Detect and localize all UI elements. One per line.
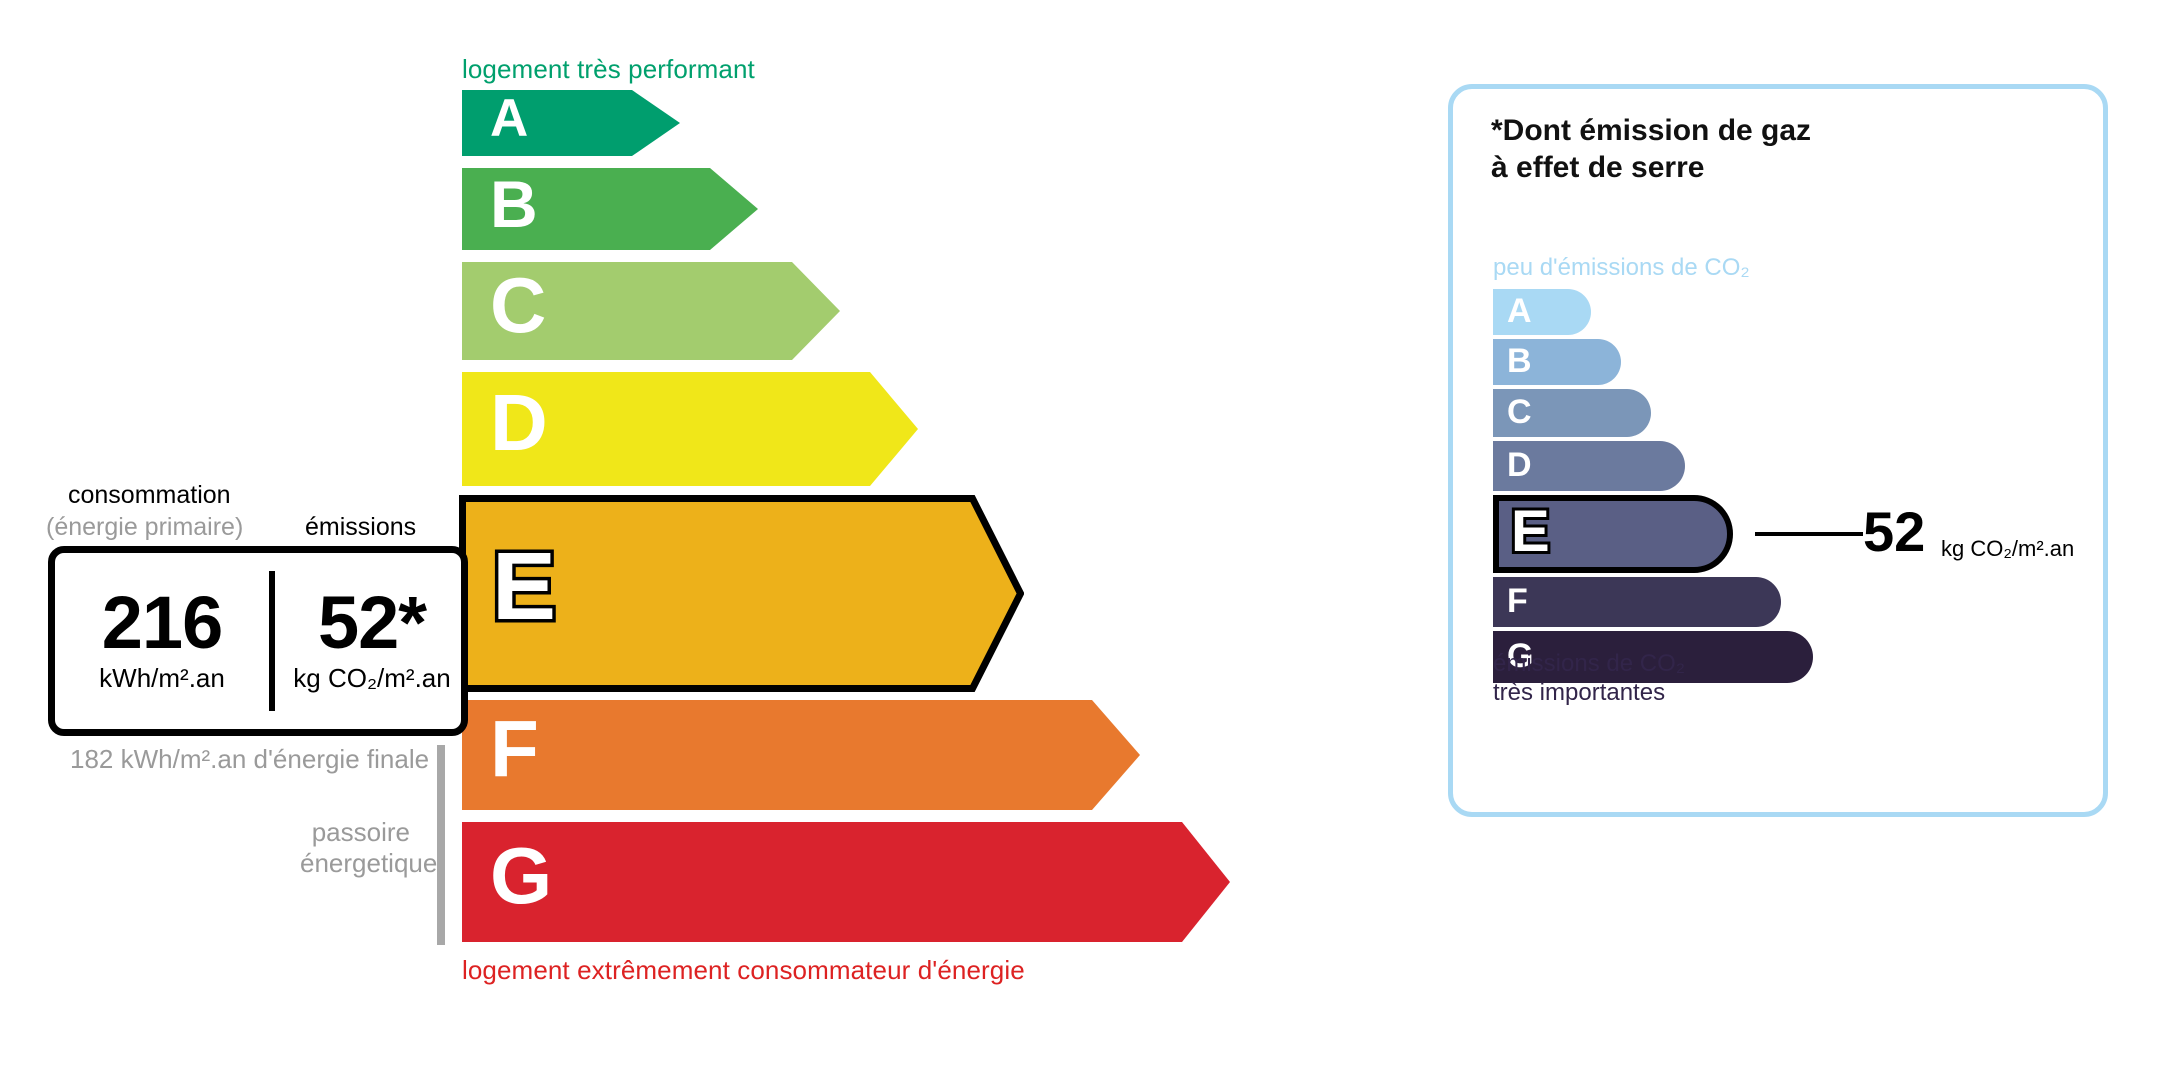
co2-callout-unit: kg CO₂/m².an [1941, 538, 2074, 560]
co2-bar-row-b: B [1493, 339, 1621, 385]
grade-letter-e: E [492, 539, 556, 635]
co2-callout-line [1755, 532, 1863, 536]
caption-consommation: consommation [68, 481, 231, 510]
scale-bottom-label: logement extrêmement consommateur d'éner… [462, 955, 1025, 986]
co2-bar-row-c: C [1493, 389, 1651, 437]
caption-energie-primaire: (énergie primaire) [46, 513, 243, 542]
grade-letter-a: A [490, 92, 528, 145]
co2-letter-c: C [1507, 395, 1532, 429]
grade-letter-g: G [490, 836, 552, 916]
value-box-divider [269, 571, 275, 711]
grade-row-b: B [462, 168, 758, 250]
co2-emissions-panel: *Dont émission de gaz à effet de serre p… [1448, 84, 2108, 817]
grade-row-d: D [462, 372, 918, 486]
co2-letter-a: A [1507, 294, 1532, 328]
co2-bar-row-e: E [1493, 495, 1733, 573]
grade-row-a: A [462, 90, 680, 156]
final-energy-note: 182 kWh/m².an d'énergie finale [70, 744, 429, 775]
grade-arrow-g [462, 822, 1230, 942]
grade-arrow-f [462, 700, 1140, 810]
co2-bar-f [1493, 577, 1781, 627]
co2-letter-f: F [1507, 584, 1528, 618]
consumption-value: 216 [102, 588, 222, 658]
grade-letter-b: B [490, 171, 538, 237]
scale-top-label: logement très performant [462, 54, 755, 85]
co2-bottom-label: émissions de CO₂ très importantes [1493, 650, 1685, 708]
co2-callout-value: 52 [1863, 504, 1925, 560]
passoire-divider [437, 745, 445, 945]
consumption-unit: kWh/m².an [99, 663, 225, 694]
emission-cell: 52* kg CO₂/m².an [277, 553, 467, 729]
grade-letter-d: D [490, 383, 548, 463]
value-box: 216 kWh/m².an 52* kg CO₂/m².an [48, 546, 468, 736]
co2-bar-row-d: D [1493, 441, 1685, 491]
consumption-cell: 216 kWh/m².an [55, 553, 269, 729]
emission-value: 52* [318, 588, 426, 658]
grade-row-c: C [462, 262, 840, 360]
co2-bar-row-f: F [1493, 577, 1781, 627]
passoire-energetique-note: passoire énergetique [300, 817, 410, 878]
grade-letter-f: F [490, 709, 539, 789]
grade-letter-c: C [490, 266, 546, 344]
grade-row-g: G [462, 822, 1230, 942]
co2-panel-title: *Dont émission de gaz à effet de serre [1491, 113, 1811, 186]
caption-emissions: émissions [305, 513, 416, 542]
co2-letter-d: D [1507, 448, 1532, 482]
grade-row-f: F [462, 700, 1140, 810]
co2-top-label: peu d'émissions de CO₂ [1493, 254, 1750, 282]
co2-letter-b: B [1507, 344, 1532, 378]
energy-performance-chart: logement très performant ABCDEFG consomm… [0, 0, 1400, 1079]
emission-unit: kg CO₂/m².an [293, 663, 450, 694]
co2-letter-e: E [1511, 503, 1550, 561]
grade-row-e: E [462, 498, 1020, 688]
co2-bar-row-a: A [1493, 289, 1591, 335]
